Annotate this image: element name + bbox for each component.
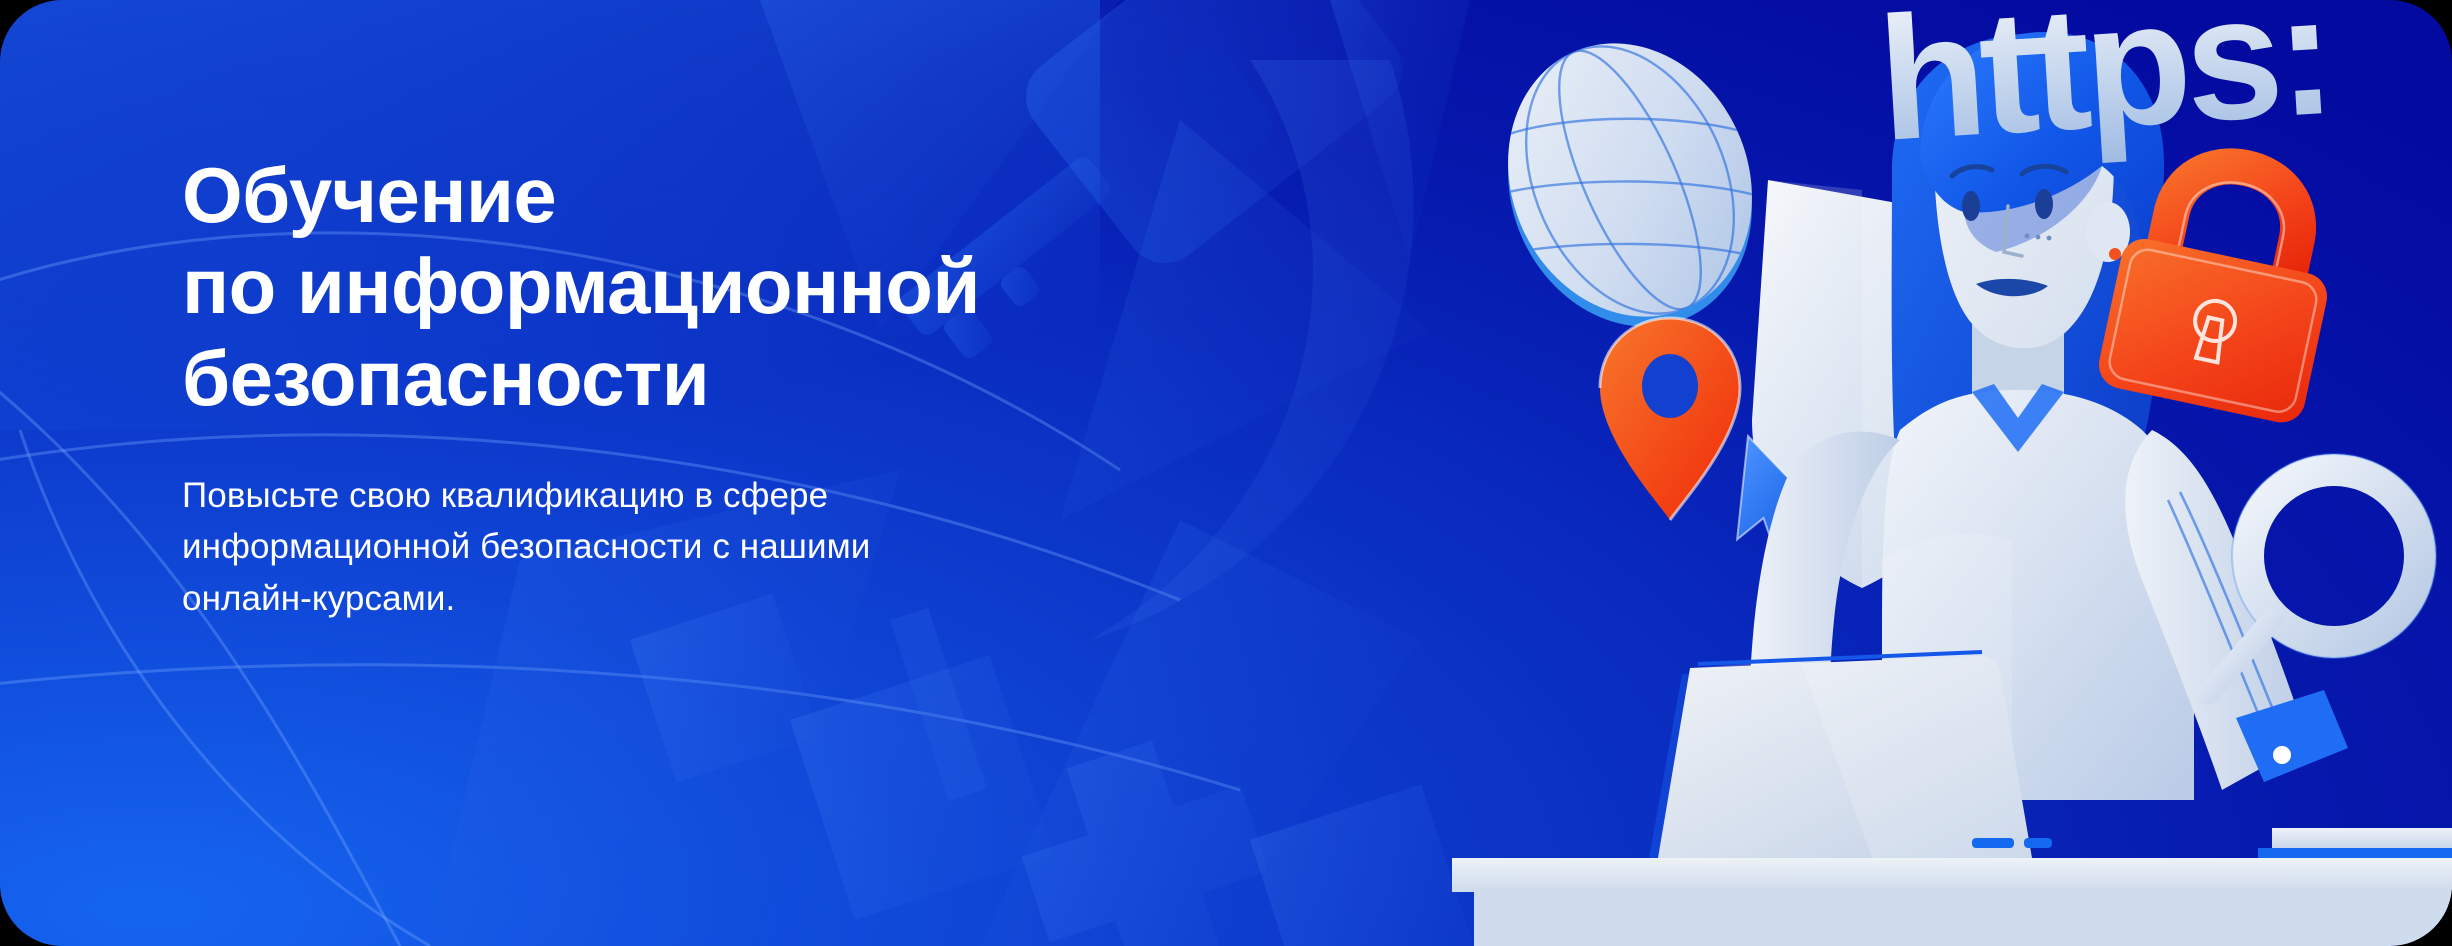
laptop-icon <box>1648 652 2052 864</box>
hero-illustration <box>1452 0 2452 946</box>
desk <box>1452 858 2452 946</box>
hero-banner: Обучение по информационной безопасности … <box>0 0 2452 946</box>
globe-icon <box>1465 4 1794 366</box>
page-subtitle: Повысьте свою квалификацию в сфере инфор… <box>182 470 1182 624</box>
magnifier-icon <box>2208 454 2436 694</box>
page-title: Обучение по информационной безопасности <box>182 150 1262 424</box>
map-pin-icon <box>1600 318 1740 520</box>
copy-block: Обучение по информационной безопасности … <box>182 150 1262 624</box>
